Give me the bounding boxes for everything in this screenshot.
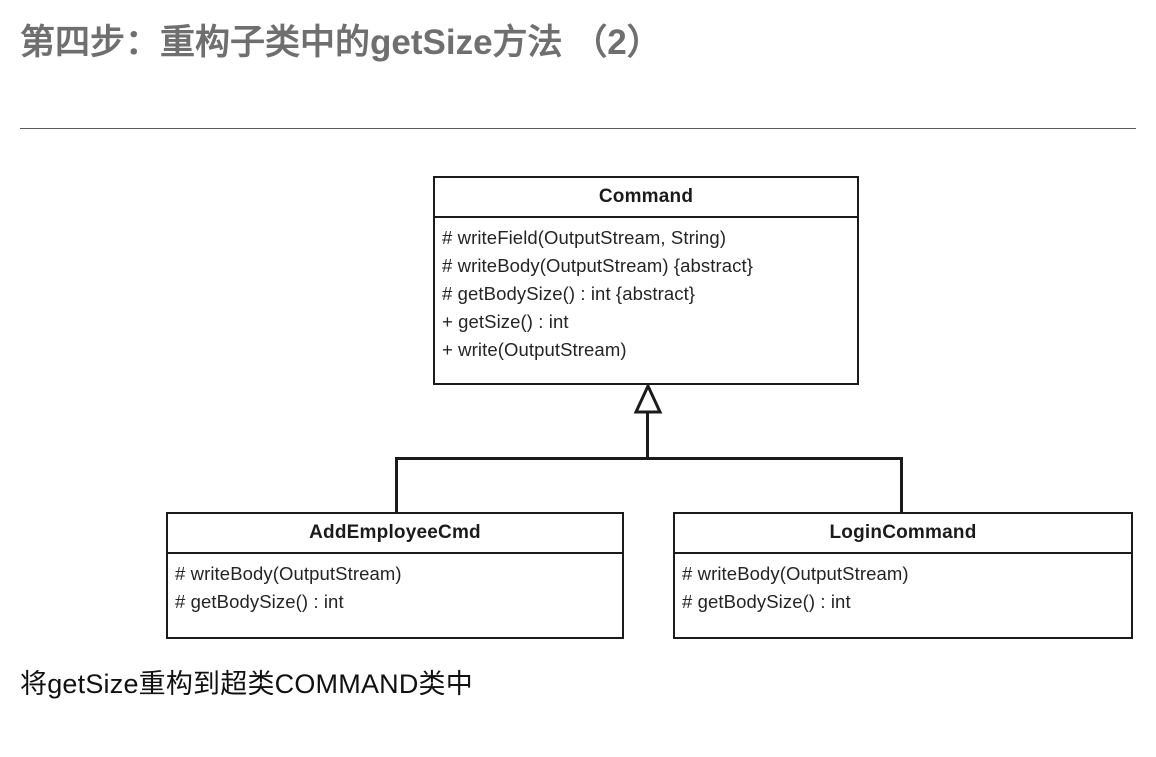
uml-class-name-addemployeecmd: AddEmployeeCmd <box>168 514 622 554</box>
generalization-arrowhead-icon <box>632 384 664 414</box>
generalization-drop-left <box>395 457 398 513</box>
slide-caption: 将getSize重构到超类COMMAND类中 <box>20 662 473 701</box>
uml-member: # writeBody(OutputStream) {abstract} <box>442 252 857 280</box>
uml-member: # writeBody(OutputStream) <box>682 560 1131 588</box>
uml-class-command[interactable]: Command # writeField(OutputStream, Strin… <box>433 176 859 385</box>
uml-member: # getBodySize() : int {abstract} <box>442 280 857 308</box>
uml-member: # writeField(OutputStream, String) <box>442 224 857 252</box>
uml-member: # getBodySize() : int <box>682 588 1131 616</box>
uml-member: + write(OutputStream) <box>442 336 857 364</box>
uml-class-diagram: Command # writeField(OutputStream, Strin… <box>0 0 1156 757</box>
uml-members-command: # writeField(OutputStream, String) # wri… <box>435 218 857 373</box>
uml-class-name-command: Command <box>435 178 857 218</box>
uml-class-logincommand[interactable]: LoginCommand # writeBody(OutputStream) #… <box>673 512 1133 639</box>
uml-member: # getBodySize() : int <box>175 588 622 616</box>
uml-member: # writeBody(OutputStream) <box>175 560 622 588</box>
uml-members-addemployeecmd: # writeBody(OutputStream) # getBodySize(… <box>168 554 622 624</box>
uml-member: + getSize() : int <box>442 308 857 336</box>
generalization-drop-right <box>900 457 903 513</box>
generalization-stem <box>646 412 649 459</box>
uml-class-name-logincommand: LoginCommand <box>675 514 1131 554</box>
uml-members-logincommand: # writeBody(OutputStream) # getBodySize(… <box>675 554 1131 624</box>
uml-class-addemployeecmd[interactable]: AddEmployeeCmd # writeBody(OutputStream)… <box>166 512 624 639</box>
generalization-bus <box>395 457 903 460</box>
